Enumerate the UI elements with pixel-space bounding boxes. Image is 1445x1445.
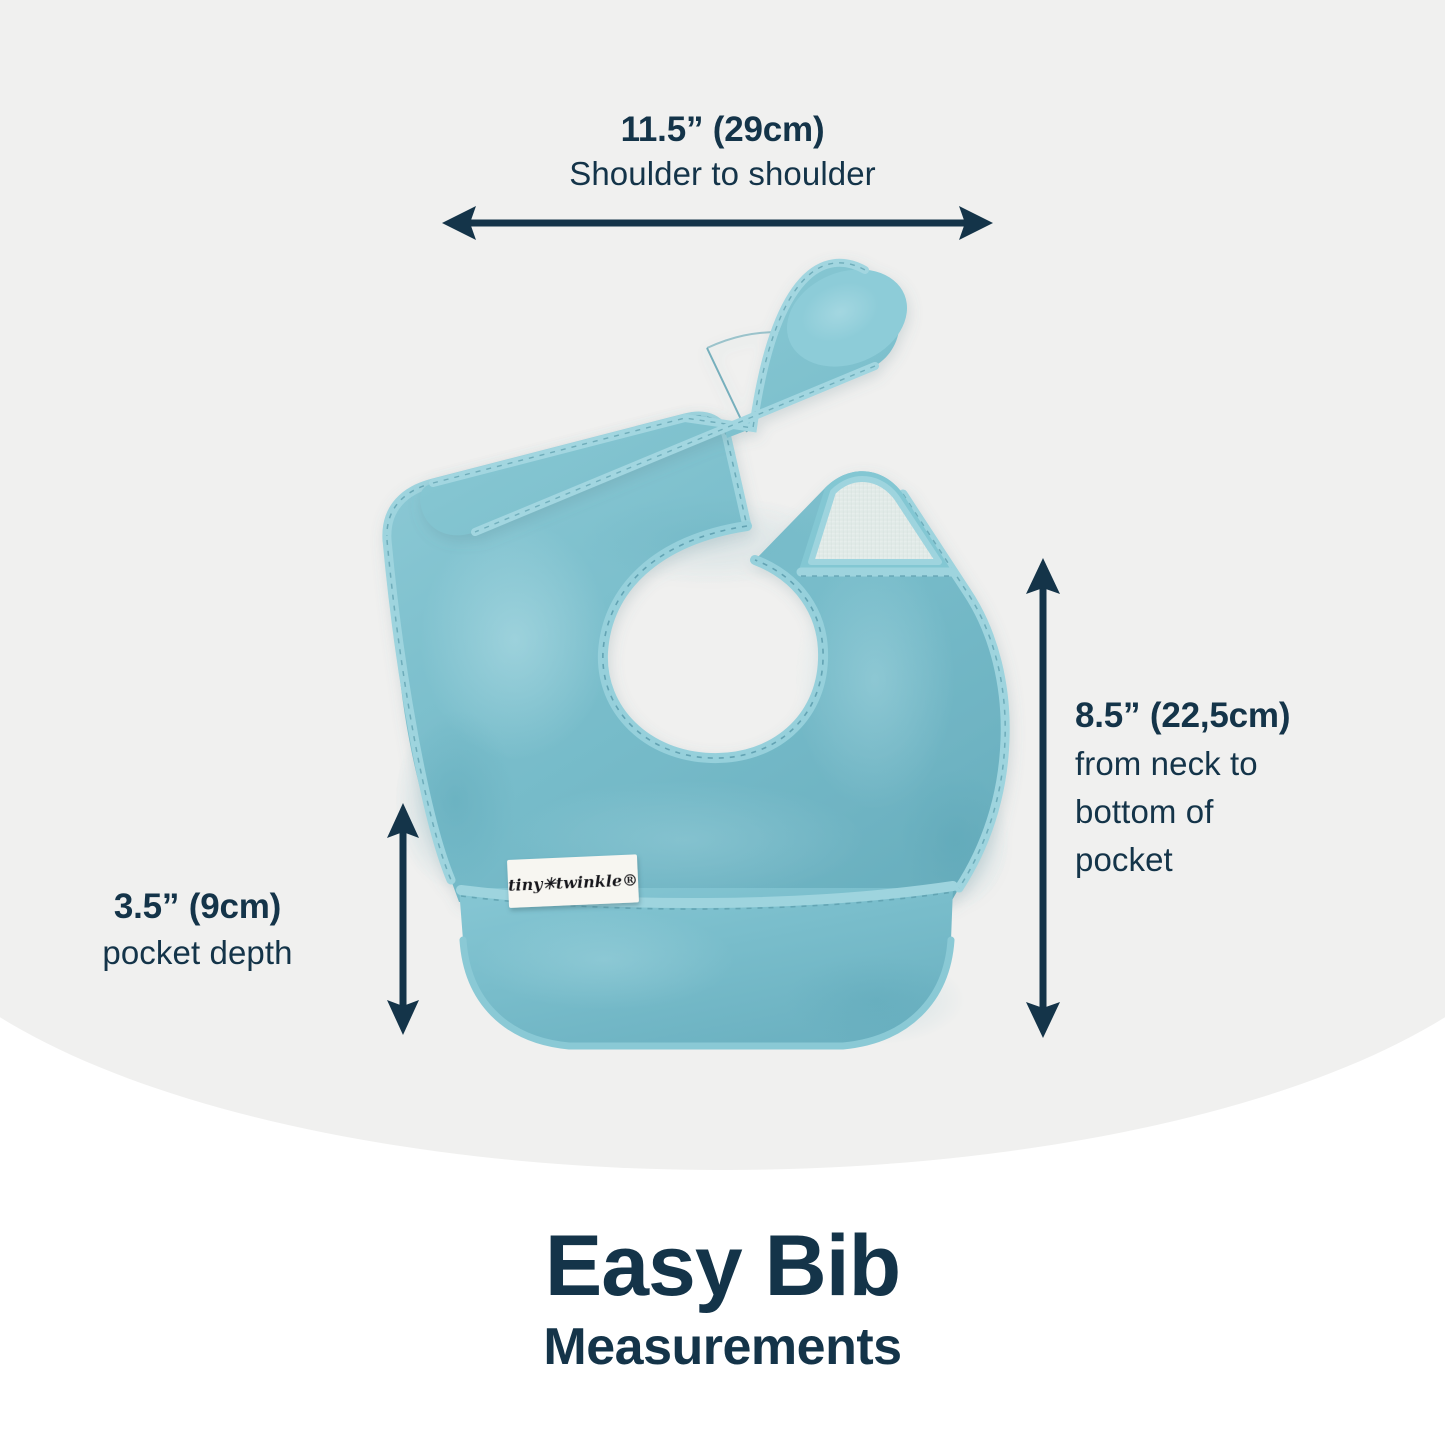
measurement-shoulder-to-shoulder: 11.5” (29cm) Shoulder to shoulder bbox=[0, 108, 1445, 196]
caption-subtitle: Measurements bbox=[0, 1314, 1445, 1380]
measurement-infographic: tiny✳twinkle® 11.5” (29cm) Shoulder to s… bbox=[0, 0, 1445, 1445]
shoulder-measure-value: 11.5” (29cm) bbox=[0, 108, 1445, 152]
arrow-pocket-depth-vertical bbox=[378, 795, 428, 1043]
neck-to-pocket-description-line2: bottom of bbox=[1075, 788, 1375, 836]
arrow-shoulder-horizontal bbox=[430, 198, 1005, 248]
arrow-neck-to-pocket-vertical bbox=[1018, 548, 1068, 1048]
bib-pocket bbox=[459, 886, 965, 1046]
measurement-pocket-depth: 3.5” (9cm) pocket depth bbox=[25, 884, 370, 976]
neck-to-pocket-value: 8.5” (22,5cm) bbox=[1075, 692, 1375, 740]
product-image-bib: tiny✳twinkle® bbox=[355, 240, 1055, 1070]
shoulder-measure-description: Shoulder to shoulder bbox=[0, 152, 1445, 196]
mesh-shoulder-tab bbox=[799, 471, 953, 576]
caption-block: Easy Bib Measurements bbox=[0, 1218, 1445, 1380]
brand-tag: tiny✳twinkle® bbox=[507, 854, 639, 908]
pocket-depth-description: pocket depth bbox=[25, 930, 370, 976]
measurement-neck-to-bottom-of-pocket: 8.5” (22,5cm) from neck to bottom of poc… bbox=[1075, 692, 1375, 884]
caption-title: Easy Bib bbox=[0, 1218, 1445, 1314]
neck-to-pocket-description-line3: pocket bbox=[1075, 836, 1375, 884]
pocket-depth-value: 3.5” (9cm) bbox=[25, 884, 370, 930]
neck-to-pocket-description-line1: from neck to bbox=[1075, 740, 1375, 788]
